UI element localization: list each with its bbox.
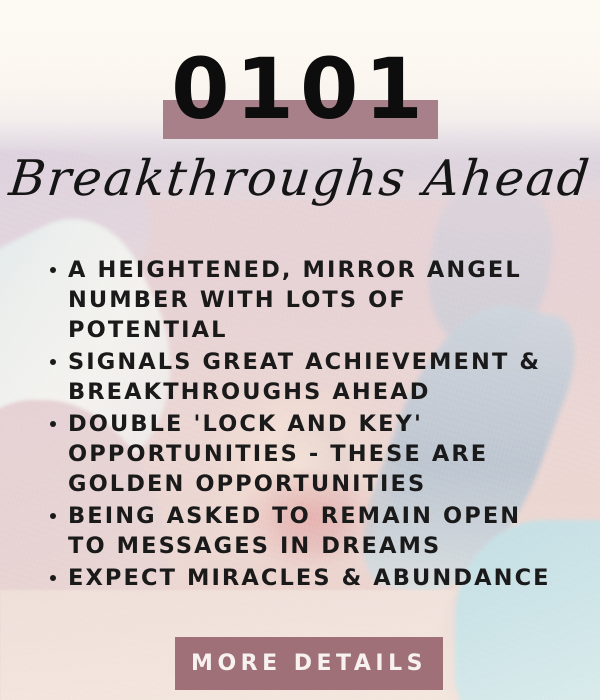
list-item: Being asked to remain open to messages i…: [45, 501, 565, 561]
list-item: Double 'lock and key' opportunities - th…: [45, 409, 565, 499]
poster-canvas: 0101 Breakthroughs Ahead A heightened, m…: [0, 0, 600, 700]
list-item: Signals great achievement & breakthrough…: [45, 347, 565, 407]
script-heading: Breakthroughs Ahead: [0, 151, 600, 207]
list-item: Expect miracles & abundance: [45, 563, 565, 593]
more-details-button[interactable]: More Details: [175, 637, 443, 690]
list-item: A heightened, mirror angel number with l…: [45, 255, 565, 345]
benefit-list: A heightened, mirror angel number with l…: [45, 255, 565, 595]
poster-content: 0101 Breakthroughs Ahead A heightened, m…: [0, 0, 600, 700]
angel-number-title: 0101: [0, 46, 600, 132]
more-details-label: More Details: [191, 651, 427, 676]
